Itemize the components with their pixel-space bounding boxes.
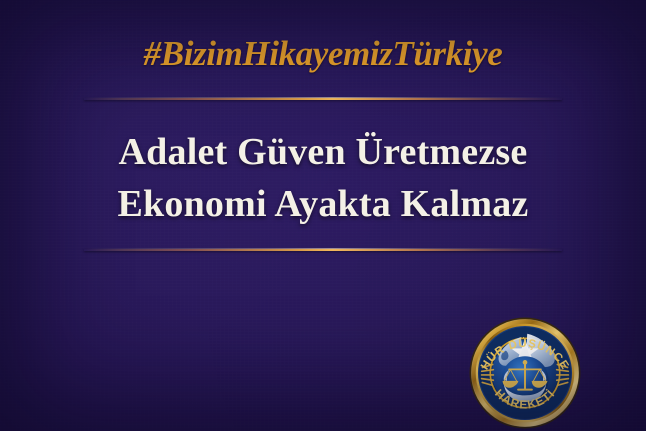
headline: Adalet Güven Üretmezse Ekonomi Ayakta Ka… bbox=[0, 126, 646, 230]
bottom-divider bbox=[84, 249, 562, 251]
top-divider-sheen bbox=[84, 97, 562, 98]
bottom-divider-sheen bbox=[84, 248, 562, 249]
hashtag-text: #BizimHikayemizTürkiye bbox=[0, 34, 646, 74]
headline-line-1: Adalet Güven Üretmezse bbox=[0, 126, 646, 178]
headline-line-2: Ekonomi Ayakta Kalmaz bbox=[0, 178, 646, 230]
top-divider bbox=[84, 98, 562, 100]
hur-dusunce-hareketi-logo[interactable]: HÜR DÜŞÜNCE HAREKETİ bbox=[469, 317, 581, 429]
poster-canvas: #BizimHikayemizTürkiye Adalet Güven Üret… bbox=[0, 0, 646, 431]
